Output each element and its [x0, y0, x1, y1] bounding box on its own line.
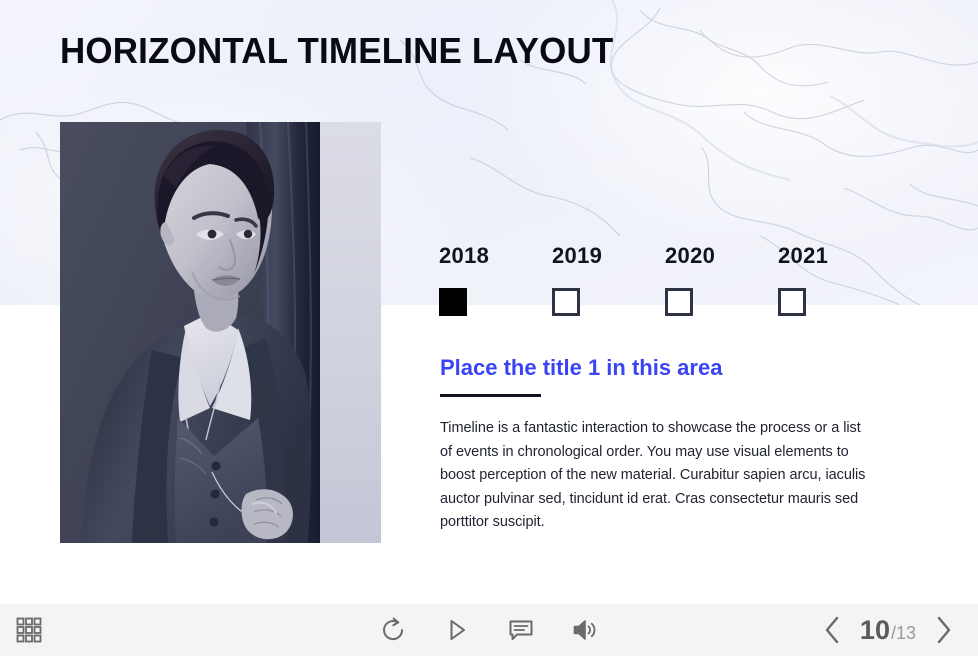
timeline-marker-2021[interactable] — [778, 288, 806, 316]
replay-button[interactable] — [376, 614, 410, 646]
timeline-year-label: 2018 — [439, 244, 534, 268]
replay-icon — [380, 617, 406, 643]
comment-button[interactable] — [504, 614, 538, 646]
slides-grid-icon — [16, 617, 42, 643]
total-pages-label: /13 — [891, 624, 916, 642]
page-indicator: 10 /13 — [854, 617, 922, 644]
timeline: 2018 2019 2020 2021 — [439, 244, 899, 324]
title-underline-rule — [440, 394, 541, 397]
player-toolbar: 10 /13 — [0, 604, 978, 656]
timeline-marker-2019[interactable] — [552, 288, 580, 316]
timeline-node-2018[interactable]: 2018 — [439, 244, 534, 316]
slides-grid-button[interactable] — [14, 615, 44, 645]
next-slide-button[interactable] — [922, 613, 964, 647]
chevron-left-icon — [820, 615, 846, 645]
timeline-node-2019[interactable]: 2019 — [552, 244, 647, 316]
timeline-node-2020[interactable]: 2020 — [665, 244, 760, 316]
content-block: Place the title 1 in this area Timeline … — [440, 354, 880, 535]
timeline-node-2021[interactable]: 2021 — [778, 244, 873, 316]
play-button[interactable] — [440, 614, 474, 646]
portrait-illustration-icon — [60, 122, 381, 543]
page-title: HORIZONTAL TIMELINE LAYOUT — [60, 30, 613, 72]
content-body-text: Timeline is a fantastic interaction to s… — [440, 417, 872, 535]
volume-button[interactable] — [568, 614, 602, 646]
page-navigation: 10 /13 — [812, 613, 964, 647]
timeline-marker-2018[interactable] — [439, 288, 467, 316]
chevron-right-icon — [930, 615, 956, 645]
current-page-number: 10 — [860, 617, 890, 644]
comment-icon — [508, 617, 534, 643]
prev-slide-button[interactable] — [812, 613, 854, 647]
portrait-photo — [60, 122, 381, 543]
content-title: Place the title 1 in this area — [440, 354, 880, 382]
slide-root: HORIZONTAL TIMELINE LAYOUT — [0, 0, 978, 656]
play-icon — [444, 617, 470, 643]
timeline-year-label: 2020 — [665, 244, 760, 268]
volume-icon — [572, 617, 598, 643]
timeline-marker-2020[interactable] — [665, 288, 693, 316]
timeline-year-label: 2019 — [552, 244, 647, 268]
playback-controls — [376, 614, 602, 646]
timeline-year-label: 2021 — [778, 244, 873, 268]
